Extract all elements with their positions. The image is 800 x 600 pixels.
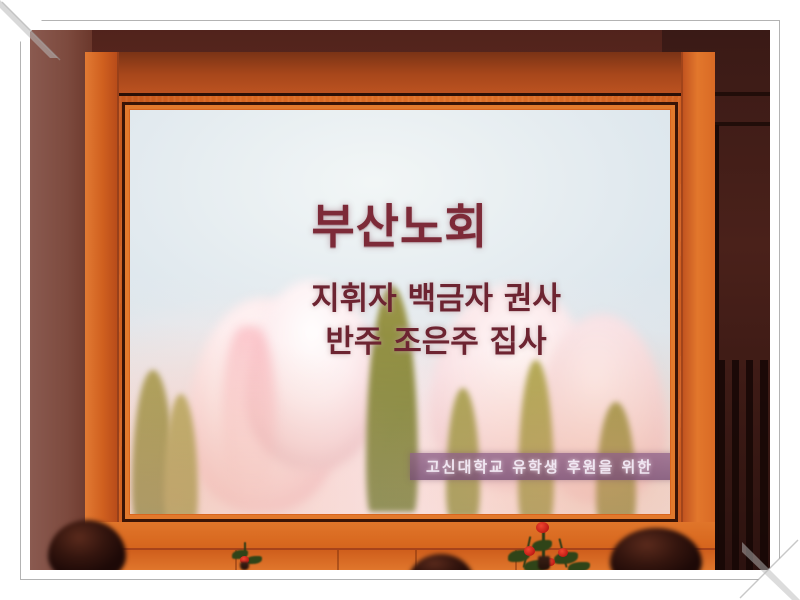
plant-bloom [524, 546, 535, 556]
slide-credit-line: 반주 조은주 집사 [226, 321, 646, 364]
plant-leaf [532, 540, 552, 551]
photograph: 부산노회 지휘자 백금자 권사 반주 조은주 집사 고신대학교 유학생 후원을 … [30, 30, 770, 570]
railing-bar-vertical [746, 360, 753, 570]
railing-bar-horizontal [706, 92, 770, 96]
slide-credit-lines: 지휘자 백금자 권사 반주 조은주 집사 [226, 278, 646, 365]
potted-flowering-plant [218, 542, 278, 570]
plant-pot [538, 556, 550, 570]
wooden-frame-top-beam [85, 52, 715, 96]
plant-pot [240, 562, 249, 570]
potted-flowering-plant [480, 522, 610, 570]
wooden-frame-right-stile [681, 52, 715, 570]
railing-bar-vertical [760, 360, 768, 570]
room-wall-left-panel [30, 30, 92, 570]
wooden-frame-left-stile [85, 52, 119, 570]
railing-bar-vertical [732, 360, 739, 570]
railing-bar-horizontal [712, 122, 770, 126]
apron-seam [337, 550, 339, 570]
projected-slide: 부산노회 지휘자 백금자 권사 반주 조은주 집사 고신대학교 유학생 후원을 … [130, 110, 670, 514]
plant-bloom [536, 522, 549, 533]
railing-bar-vertical [718, 360, 725, 570]
slide-credit-line: 지휘자 백금자 권사 [226, 278, 646, 321]
slide-banner-text: 고신대학교 유학생 후원을 위한 [426, 456, 653, 477]
plant-bloom [558, 548, 568, 557]
slide-title: 부산노회 [130, 188, 670, 257]
plant-leaf [568, 562, 590, 570]
slide-bottom-banner: 고신대학교 유학생 후원을 위한 [410, 453, 670, 480]
photo-frame-stage: 부산노회 지휘자 백금자 권사 반주 조은주 집사 고신대학교 유학생 후원을 … [0, 0, 800, 600]
